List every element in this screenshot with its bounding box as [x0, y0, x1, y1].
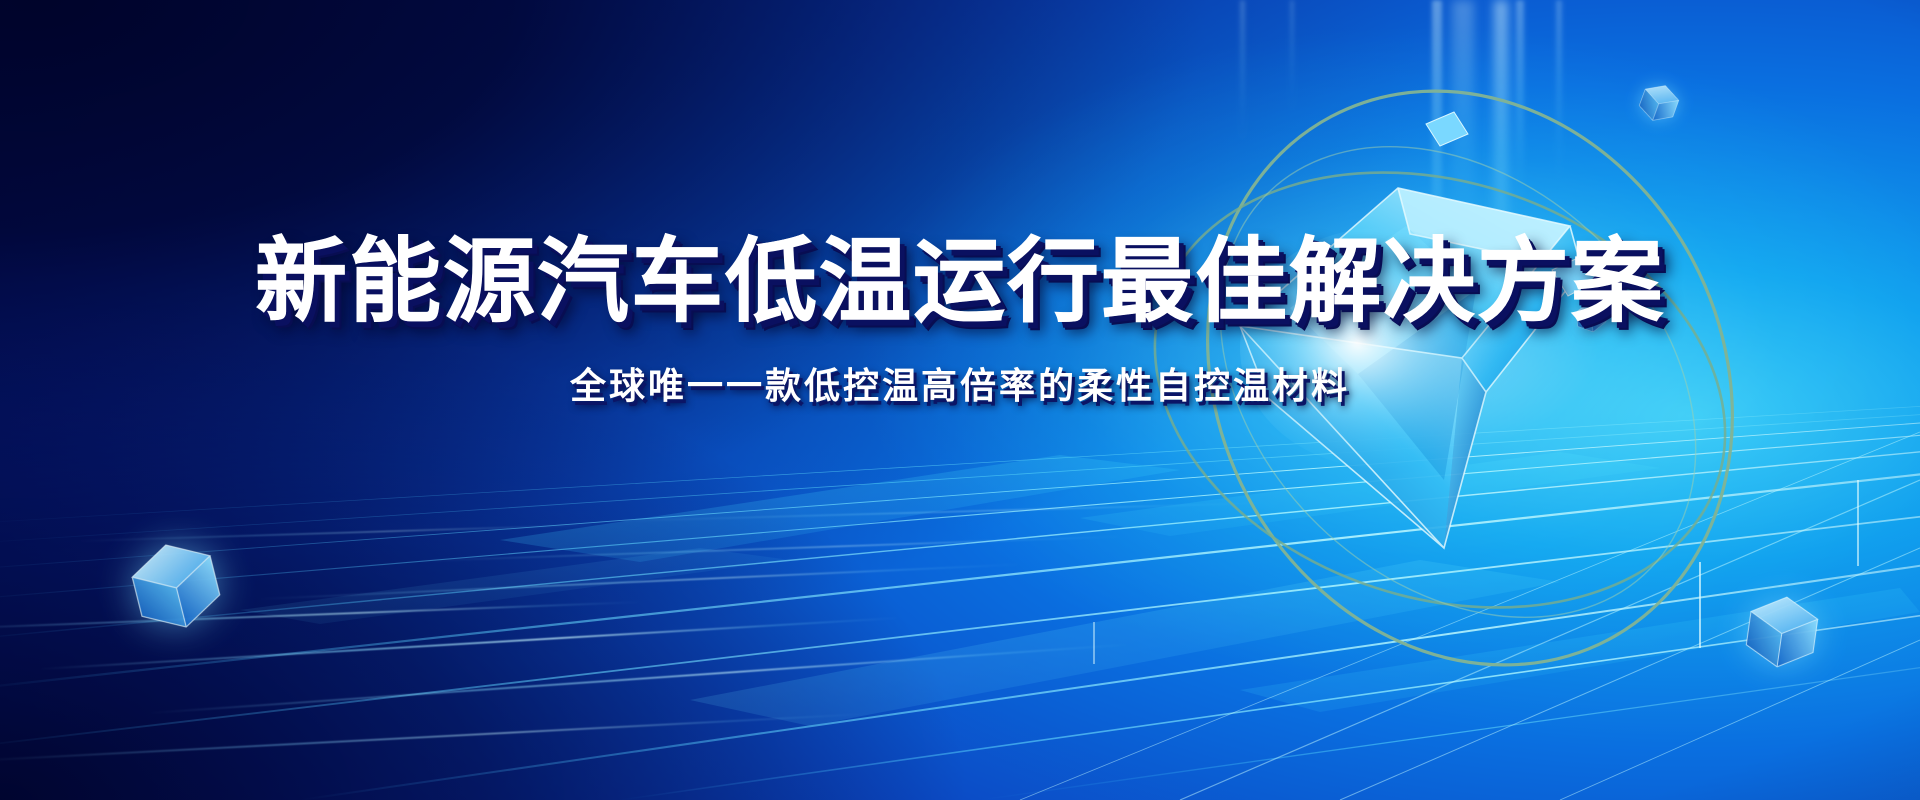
hero-text-block: 新能源汽车低温运行最佳解决方案 全球唯一一款低控温高倍率的柔性自控温材料	[0, 236, 1920, 404]
page-subtitle: 全球唯一一款低控温高倍率的柔性自控温材料	[0, 368, 1920, 404]
page-title: 新能源汽车低温运行最佳解决方案	[0, 236, 1920, 328]
hero-banner: 新能源汽车低温运行最佳解决方案 全球唯一一款低控温高倍率的柔性自控温材料	[0, 0, 1920, 800]
